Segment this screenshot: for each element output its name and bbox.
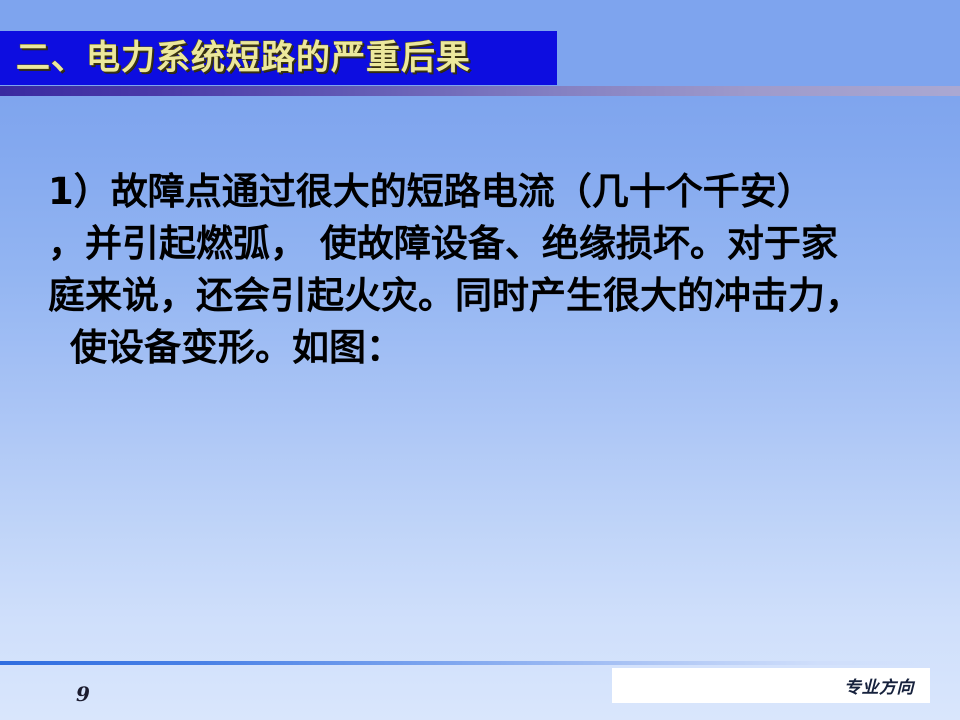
section-title-banner: 二、电力系统短路的严重后果 bbox=[0, 31, 557, 85]
body-line-1: 1）故障点通过很大的短路电流（几十个千安） bbox=[48, 166, 928, 218]
body-line-2: ，并引起燃弧， 使故障设备、绝缘损坏。对于家 bbox=[48, 218, 928, 270]
title-divider-rule bbox=[0, 86, 960, 96]
body-line-3: 庭来说，还会引起火灾。同时产生很大的冲击力， bbox=[48, 270, 928, 322]
page-number: 9 bbox=[76, 682, 90, 706]
footer-label-box: 专业方向 bbox=[612, 668, 930, 703]
body-line-4: 使设备变形。如图： bbox=[48, 322, 928, 374]
footer-label-text: 专业方向 bbox=[844, 673, 914, 698]
slide-canvas: 二、电力系统短路的严重后果 1）故障点通过很大的短路电流（几十个千安） ，并引起… bbox=[0, 0, 960, 720]
body-text-block: 1）故障点通过很大的短路电流（几十个千安） ，并引起燃弧， 使故障设备、绝缘损坏… bbox=[48, 166, 928, 374]
section-title-text: 二、电力系统短路的严重后果 bbox=[0, 41, 471, 75]
footer-divider-rule bbox=[0, 661, 930, 665]
